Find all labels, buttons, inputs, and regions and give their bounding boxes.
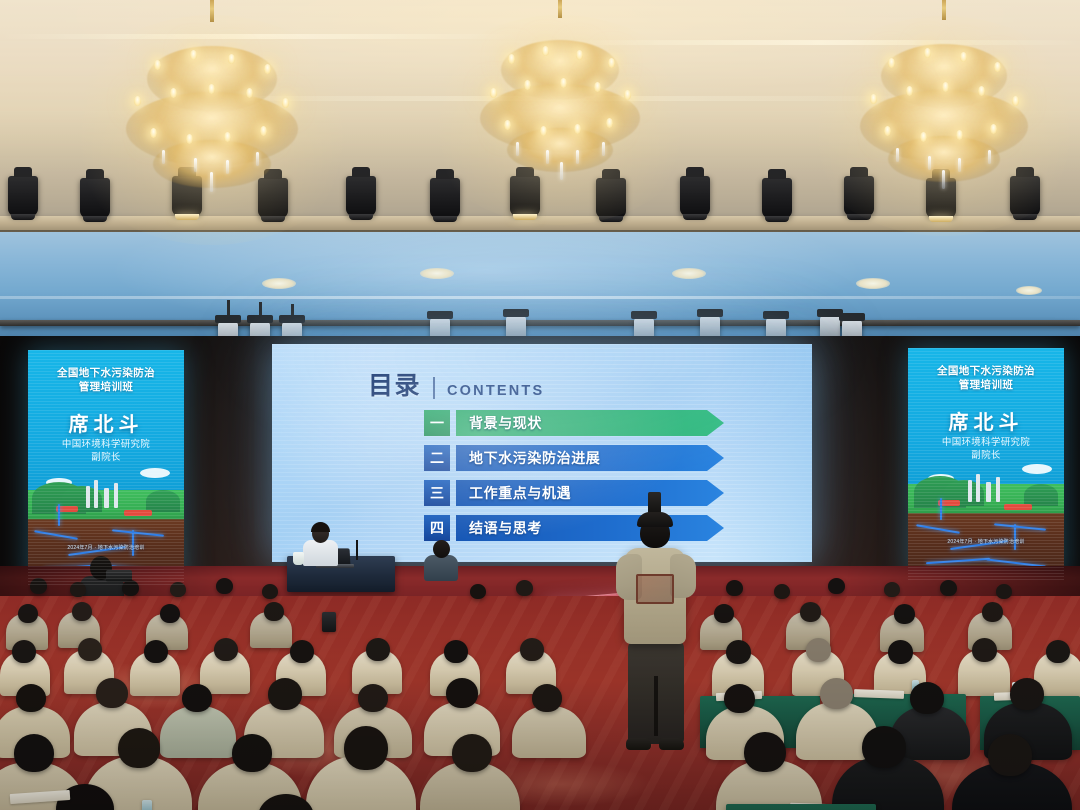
chandelier-bulb: [260, 126, 267, 136]
building-shape: [996, 477, 1000, 502]
chandelier-bulb: [924, 48, 931, 58]
chandelier-bulb: [884, 126, 891, 136]
audience-head-long-hair: [344, 726, 388, 770]
audience-head: [724, 684, 755, 713]
audience-head: [996, 584, 1012, 599]
chandelier-bulb: [264, 64, 271, 74]
toc-item: 二 地下水污染防治进展: [424, 445, 724, 471]
audience-head: [160, 604, 180, 623]
side-screen-right: 全国地下水污染防治 管理培训班 席北斗 中国环境科学研究院 副院长 2024年7…: [908, 348, 1064, 580]
par-can-light: [596, 178, 626, 218]
audience-head: [444, 640, 468, 663]
building-shape: [976, 474, 980, 502]
audience-head: [516, 580, 533, 596]
audience-head: [828, 578, 845, 594]
chandelier-chain: [558, 0, 562, 18]
cloud-shape: [140, 468, 170, 478]
groundwater-line: [58, 504, 60, 526]
groundwater-line: [132, 530, 134, 556]
chandelier-crystal: [988, 150, 991, 164]
chandelier-bulb: [956, 130, 963, 140]
ceiling-light-slot: [560, 40, 1080, 45]
audience-head: [774, 584, 790, 599]
audience-head: [14, 734, 54, 772]
shirt-graphic-print: [636, 574, 674, 604]
conference-hall-photo: 全国地下水污染防治 管理培训班 席北斗 中国环境科学研究院 副院长 2024年7…: [0, 0, 1080, 810]
side-screen-left-heading: 全国地下水污染防治 管理培训班: [28, 366, 184, 394]
audience-head: [726, 580, 743, 596]
audience-head: [72, 602, 92, 621]
chandelier-bulb: [246, 88, 253, 98]
par-can-light: [510, 176, 540, 216]
chandelier-crystal: [602, 142, 605, 156]
slide-title: 目录 CONTENTS: [368, 366, 544, 402]
audience-head: [290, 640, 314, 663]
groundwater-line: [940, 498, 942, 520]
chandelier-crystal: [162, 150, 165, 164]
water-bottle: [142, 800, 152, 810]
downlight: [420, 268, 454, 279]
audience-head: [16, 684, 46, 712]
chandelier-bulb: [624, 90, 631, 100]
audience-head: [262, 584, 278, 599]
audience-head: [144, 640, 168, 663]
photographer-shoe: [626, 738, 651, 750]
downlight: [262, 278, 296, 289]
audience-head: [366, 638, 390, 661]
chandelier-bulb: [228, 54, 235, 64]
chandelier-crystal: [256, 152, 259, 166]
audience-person-body: [512, 706, 586, 758]
audience-head: [12, 640, 36, 663]
audience-head: [30, 578, 47, 594]
side-screen-right-heading: 全国地下水污染防治 管理培训班: [908, 364, 1064, 392]
audience-head: [520, 638, 544, 661]
audience-head: [532, 684, 562, 712]
chandelier-bulb: [574, 124, 581, 134]
roof-shape: [124, 510, 152, 516]
chandelier-chain: [210, 0, 214, 22]
building-shape: [86, 486, 90, 508]
photographer-cap: [637, 512, 673, 527]
audience-head: [894, 604, 915, 624]
chandelier-chain: [942, 0, 946, 20]
chandelier-bulb: [978, 86, 985, 96]
groundwater-line: [1014, 524, 1016, 550]
audience-seating: [0, 556, 1080, 810]
chandelier-bulb: [490, 88, 497, 98]
chandelier-bulb: [504, 120, 511, 130]
downlight: [1016, 286, 1042, 295]
toc-label: 结语与思考: [456, 518, 542, 538]
audience-head: [118, 728, 160, 768]
slide-title-english: CONTENTS: [447, 383, 544, 402]
main-presentation-screen: 目录 CONTENTS 一 背景与现状 二 地下水污染防治进展: [272, 344, 812, 562]
side-screen-left-org: 中国环境科学研究院 副院长: [28, 438, 184, 464]
chandelier-crystal: [576, 150, 579, 164]
lighting-truss: [0, 320, 1080, 326]
chandelier-crystal: [194, 158, 197, 172]
par-can-light: [1010, 176, 1040, 216]
audience-head: [446, 678, 478, 708]
chandelier-crystal: [896, 148, 899, 162]
side-screen-left-speaker-name: 席北斗: [28, 408, 184, 437]
audience-head: [214, 638, 238, 661]
downlight: [856, 278, 890, 289]
audience-head: [972, 638, 997, 662]
chandelier-bulb: [524, 80, 531, 90]
chandelier-bulb: [134, 96, 141, 106]
audience-head: [182, 684, 212, 712]
audience-head: [744, 732, 786, 772]
audience-person-body: [160, 706, 236, 758]
building-shape: [104, 488, 109, 508]
chandelier-bulb: [942, 82, 949, 92]
audience-head-bald: [806, 638, 831, 662]
handout-paper: [854, 689, 904, 699]
wall-seam: [0, 296, 1080, 299]
audience-head: [216, 578, 233, 594]
heading-line-1: 全国地下水污染防治: [57, 367, 155, 379]
audience-head-bald: [820, 678, 853, 709]
toc-number: 一: [424, 410, 450, 436]
chandelier-bulb: [150, 128, 157, 138]
par-can-light: [926, 178, 956, 218]
audience-head: [452, 734, 492, 772]
chandelier-bulb: [154, 60, 161, 70]
chandelier-bulb: [560, 78, 567, 88]
toc-label: 工作重点与机遇: [456, 483, 571, 503]
audience-head: [70, 582, 86, 597]
audience-head: [862, 726, 906, 768]
audience-head: [888, 640, 913, 664]
chandelier-bulb: [1012, 96, 1019, 106]
org-line-1: 中国环境科学研究院: [62, 439, 150, 450]
hill-shape: [1024, 484, 1058, 506]
chandelier-crystal: [560, 162, 563, 180]
par-can-light: [680, 176, 710, 216]
building-shape: [986, 482, 991, 502]
audience-table: [726, 804, 876, 810]
toc-number: 三: [424, 480, 450, 506]
side-screen-right-org: 中国环境科学研究院 副院长: [908, 436, 1064, 462]
hill-shape: [146, 490, 180, 512]
audience-head: [982, 602, 1003, 622]
chandelier-crystal: [210, 172, 213, 192]
building-shape: [114, 483, 118, 508]
chandelier-crystal: [516, 142, 519, 156]
audience-head: [18, 604, 38, 623]
toc-item: 一 背景与现状: [424, 410, 724, 436]
chandelier-bulb: [606, 118, 613, 128]
standing-photographer: [612, 508, 698, 766]
toc-arrow-bar: 背景与现状: [456, 410, 724, 436]
audience-head: [264, 602, 284, 621]
audience-head: [884, 582, 900, 597]
toc-label: 地下水污染防治进展: [456, 448, 600, 468]
audience-head: [910, 682, 944, 714]
chandelier-bulb: [608, 58, 615, 68]
toc-arrow-bar: 地下水污染防治进展: [456, 445, 724, 471]
toc-label: 背景与现状: [456, 413, 542, 433]
chandelier-bulb: [920, 132, 927, 142]
par-can-light: [346, 176, 376, 216]
chandelier-bulb: [224, 132, 231, 142]
chandelier-bulb: [282, 98, 289, 108]
presenter-hair: [311, 522, 330, 532]
audience-head: [232, 734, 272, 772]
par-can-light: [258, 178, 288, 218]
audience-head: [714, 604, 734, 623]
camera-device: [648, 492, 661, 514]
chandelier-bulb: [870, 94, 877, 104]
chandelier-crystal: [942, 170, 945, 189]
side-screen-right-speaker-name: 席北斗: [908, 406, 1064, 435]
toc-number: 四: [424, 515, 450, 541]
audience-head: [470, 584, 486, 599]
par-can-light: [844, 176, 874, 216]
title-divider: [433, 377, 435, 399]
par-can-light: [430, 178, 460, 218]
chandelier-bulb: [170, 88, 177, 98]
audience-head: [78, 638, 102, 661]
audience-head: [1046, 640, 1070, 663]
side-screen-right-footer: 2024年7月 · 地下水污染防治培训: [908, 539, 1064, 546]
chandelier-bulb: [994, 62, 1001, 72]
heading-line-1: 全国地下水污染防治: [937, 365, 1035, 377]
chandelier-crystal: [226, 160, 229, 174]
chandelier-crystal: [546, 150, 549, 164]
downlight: [672, 268, 706, 279]
audience-head: [800, 602, 821, 622]
roof-shape: [1004, 504, 1032, 510]
audience-head: [122, 580, 139, 596]
par-can-light: [762, 178, 792, 218]
chandelier-crystal: [928, 156, 931, 170]
audience-head: [988, 734, 1032, 776]
photographer-leg-gap: [654, 676, 658, 736]
raised-phone: [322, 612, 336, 632]
chandelier-bulb: [594, 82, 601, 92]
audience-head: [940, 580, 957, 596]
building-shape: [94, 480, 98, 508]
chandelier-bulb: [960, 52, 967, 62]
par-can-light: [8, 176, 38, 216]
side-screen-left-footer: 2024年7月 · 地下水污染防治培训: [28, 545, 184, 552]
cloud-shape: [1022, 464, 1052, 474]
side-screen-left: 全国地下水污染防治 管理培训班 席北斗 中国环境科学研究院 副院长 2024年7…: [28, 350, 184, 586]
toc-item: 三 工作重点与机遇: [424, 480, 724, 506]
heading-line-2: 管理培训班: [959, 379, 1014, 391]
toc-arrow-bar: 工作重点与机遇: [456, 480, 724, 506]
audience-head: [1010, 678, 1044, 710]
chandelier-bulb: [186, 134, 193, 144]
audience-head: [170, 582, 186, 597]
chandelier-bulb: [508, 54, 515, 64]
org-line-1: 中国环境科学研究院: [942, 437, 1030, 448]
ceiling-light-slot: [0, 34, 520, 39]
slide-contents: 目录 CONTENTS 一 背景与现状 二 地下水污染防治进展: [272, 344, 812, 562]
heading-line-2: 管理培训班: [79, 381, 134, 393]
chandelier-bulb: [576, 50, 583, 60]
slide-title-chinese: 目录: [368, 366, 421, 402]
audience-head: [96, 678, 128, 708]
chandelier-crystal: [958, 158, 961, 172]
chandelier-bulb: [190, 50, 197, 60]
building-shape: [968, 480, 972, 502]
chandelier-bulb: [540, 126, 547, 136]
chandelier-bulb: [542, 46, 549, 56]
org-line-2: 副院长: [91, 452, 120, 463]
org-line-2: 副院长: [971, 450, 1000, 461]
chandelier-bulb: [906, 86, 913, 96]
audience-head: [726, 640, 751, 664]
chandelier-bulb: [888, 58, 895, 68]
audience-head-long-hair: [268, 678, 302, 710]
chandelier-bulb: [990, 124, 997, 134]
chandelier-bulb: [208, 84, 215, 94]
par-can-light: [80, 178, 110, 218]
audience-head: [358, 684, 388, 712]
photographer-shoe: [659, 738, 684, 750]
toc-number: 二: [424, 445, 450, 471]
